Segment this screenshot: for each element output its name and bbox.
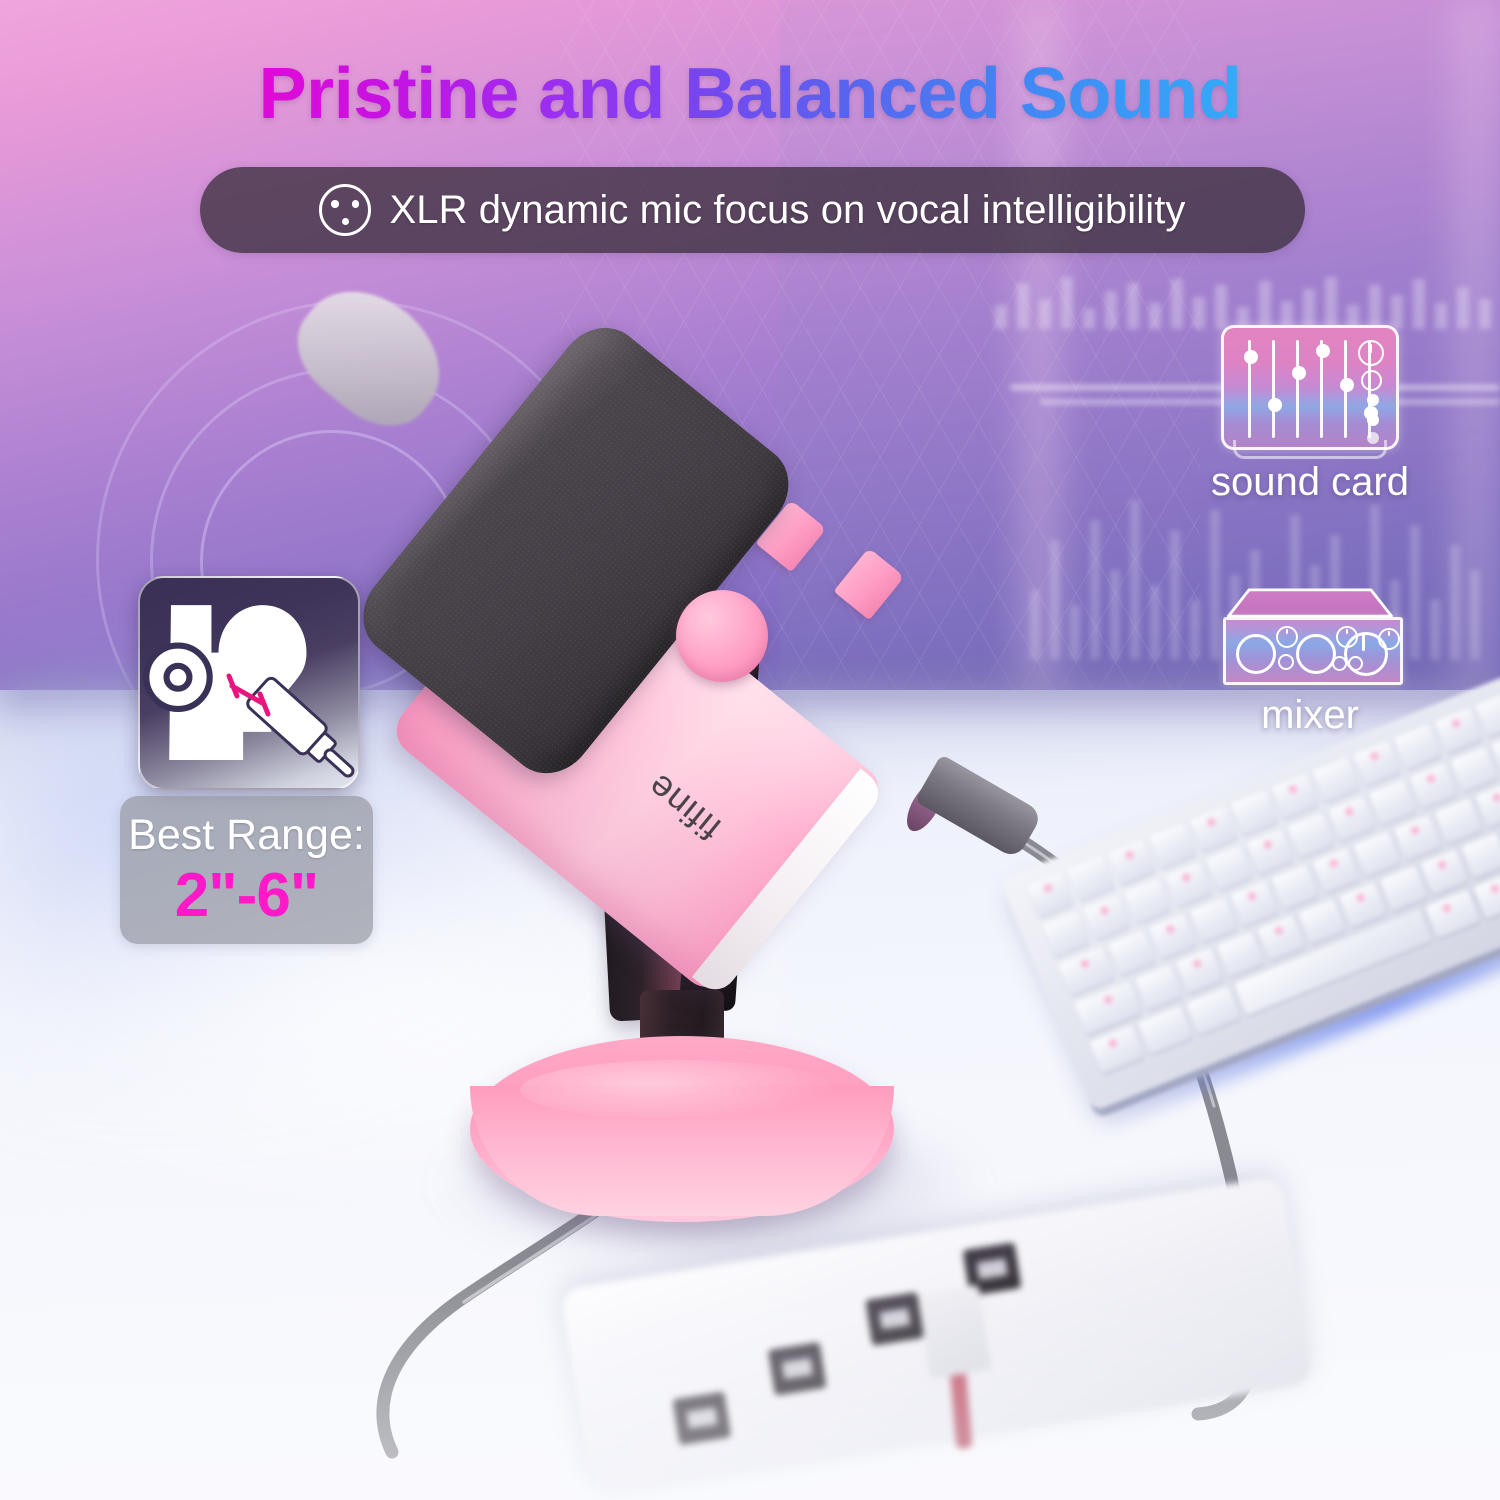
usb-port-3[interactable]	[865, 1292, 924, 1346]
best-range-icon	[138, 576, 360, 790]
sound-card-icon	[1221, 325, 1399, 450]
sound-card-label: sound card	[1205, 460, 1415, 505]
mixer-icon	[1217, 588, 1403, 683]
microphone-gain-knob[interactable]	[676, 590, 768, 682]
compatibility-sound-card: sound card	[1205, 325, 1415, 505]
mixer-label: mixer	[1203, 693, 1417, 738]
mic-stand-base-highlight	[520, 1060, 840, 1120]
usb-port-2[interactable]	[768, 1342, 827, 1396]
best-range-badge: Best Range: 2"-6"	[120, 796, 373, 944]
best-range-label: Best Range:	[128, 814, 365, 857]
head-with-headphones-and-mic-distance-icon	[140, 578, 358, 788]
product-marketing-image: Pristine and Balanced Sound XLR dynamic …	[0, 0, 1500, 1500]
usb-hub-inserted-plug	[917, 1284, 992, 1379]
mixer-top-panel	[1217, 588, 1403, 618]
compatibility-mixer: mixer	[1203, 588, 1417, 738]
best-range-value: 2"-6"	[175, 865, 318, 927]
usb-port-1[interactable]	[673, 1392, 732, 1446]
